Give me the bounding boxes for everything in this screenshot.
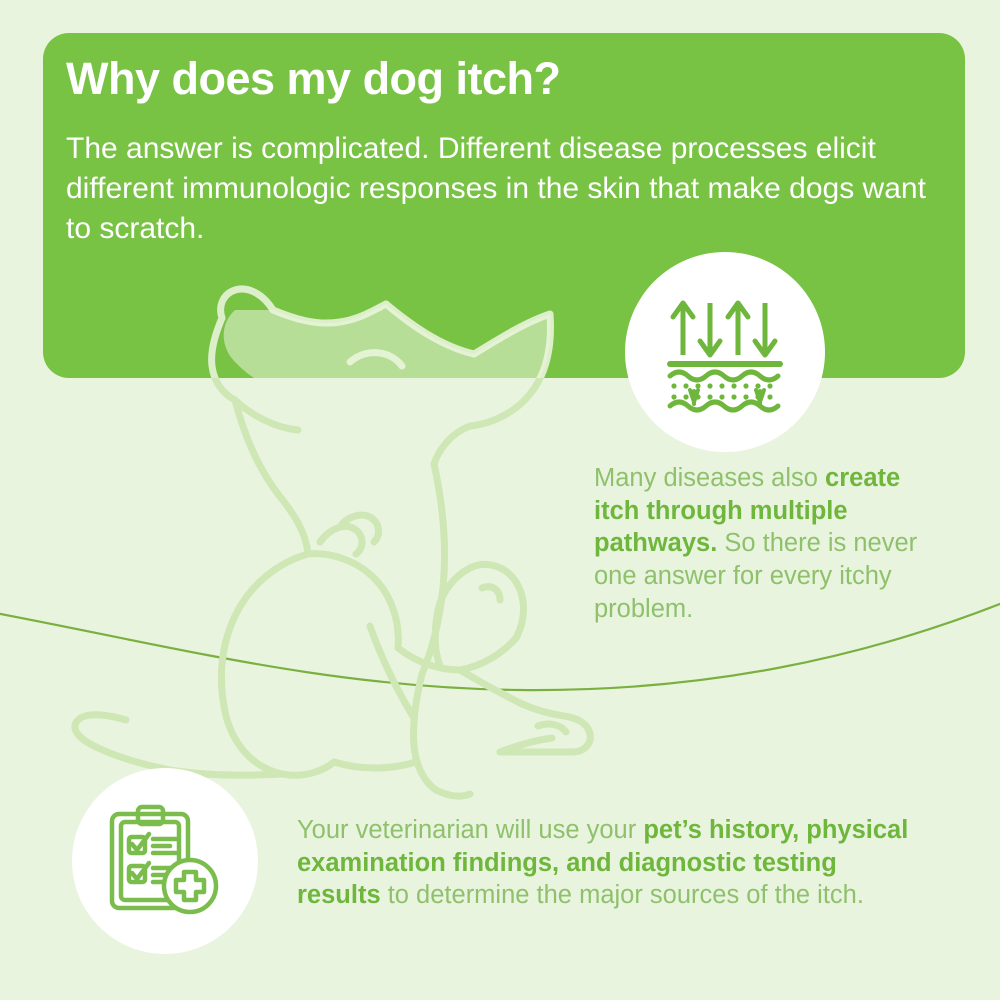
text-block-multiple-pathways: Many diseases also create itch through m… (594, 462, 924, 625)
text-block-veterinarian-diagnosis: Your veterinarian will use your pet’s hi… (297, 814, 912, 912)
clipboard-checklist-medical-icon (104, 800, 226, 922)
text-run: Your veterinarian will use your (297, 816, 643, 844)
skin-arrows-icon-circle (625, 252, 825, 452)
text-run: Many diseases also (594, 464, 825, 492)
text-run: to determine the major sources of the it… (381, 881, 864, 909)
skin-arrows-icon (660, 287, 790, 417)
hero-description: The answer is complicated. Different dis… (66, 129, 936, 249)
page-title: Why does my dog itch? (66, 54, 886, 104)
infographic-canvas: Why does my dog itch? The answer is comp… (0, 0, 1000, 1000)
clipboard-icon-circle (72, 768, 258, 954)
